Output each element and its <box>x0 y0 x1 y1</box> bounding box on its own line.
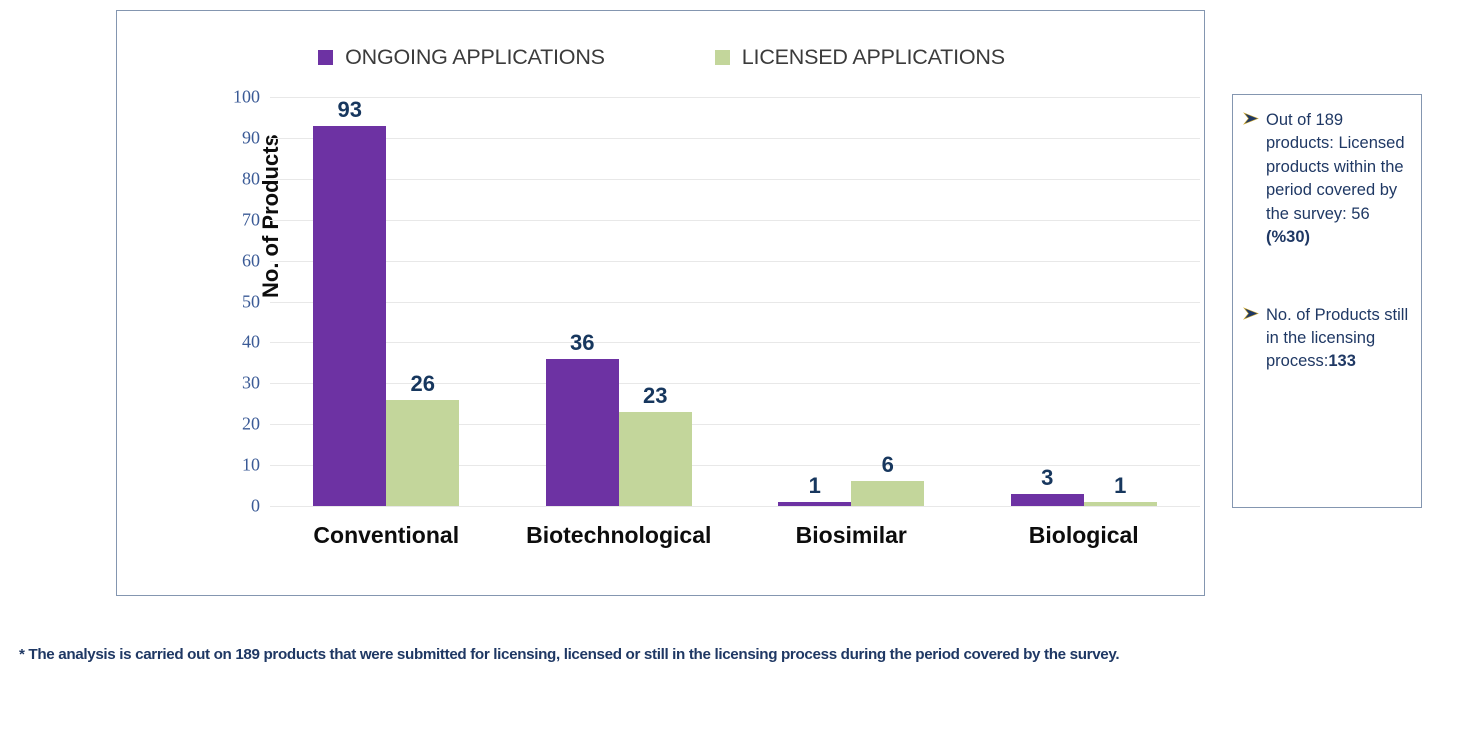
bar-value-label: 6 <box>882 452 894 478</box>
category-label: Conventional <box>313 522 459 549</box>
bar-value-label: 1 <box>809 473 821 499</box>
category-label: Biosimilar <box>796 522 907 549</box>
legend-label-licensed: LICENSED APPLICATIONS <box>742 45 1005 70</box>
category-label: Biotechnological <box>526 522 711 549</box>
y-tick-label: 20 <box>214 414 260 435</box>
bar-value-label: 3 <box>1041 465 1053 491</box>
legend-swatch-licensed <box>715 50 730 65</box>
y-tick-label: 60 <box>214 250 260 271</box>
plot-area: 1009080706050403020100 9326Conventional3… <box>270 97 1200 506</box>
note-text-2-bold: 133 <box>1328 352 1356 370</box>
legend-label-ongoing: ONGOING APPLICATIONS <box>345 45 605 70</box>
bar-group: 3623Biotechnological <box>503 97 736 506</box>
y-tick-label: 40 <box>214 332 260 353</box>
bar-group: 16Biosimilar <box>735 97 968 506</box>
note-text-1: Out of 189 products: Licensed products w… <box>1266 109 1411 250</box>
bar-ongoing[interactable]: 1 <box>778 502 851 506</box>
y-tick-label: 80 <box>214 168 260 189</box>
bar-group: 31Biological <box>968 97 1201 506</box>
arrow-bullet-icon <box>1243 304 1259 325</box>
arrow-bullet-icon <box>1243 109 1259 130</box>
bar-value-label: 1 <box>1114 473 1126 499</box>
y-tick-label: 10 <box>214 455 260 476</box>
footnote-text: * The analysis is carried out on 189 pro… <box>19 646 1459 663</box>
y-axis-tick-labels: 1009080706050403020100 <box>214 97 260 506</box>
category-label: Biological <box>1029 522 1139 549</box>
bar-licensed[interactable]: 26 <box>386 400 459 506</box>
y-tick-label: 90 <box>214 127 260 148</box>
note-text-1-bold: (%30) <box>1266 228 1310 246</box>
note-item: Out of 189 products: Licensed products w… <box>1243 109 1411 250</box>
note-item: No. of Products still in the licensing p… <box>1243 304 1411 374</box>
y-tick-label: 100 <box>214 87 260 108</box>
chart-container: ONGOING APPLICATIONS LICENSED APPLICATIO… <box>116 10 1205 596</box>
bar-ongoing[interactable]: 93 <box>313 126 386 506</box>
y-tick-label: 50 <box>214 291 260 312</box>
chart-legend: ONGOING APPLICATIONS LICENSED APPLICATIO… <box>117 45 1206 70</box>
note-text-2: No. of Products still in the licensing p… <box>1266 304 1411 374</box>
legend-swatch-ongoing <box>318 50 333 65</box>
gridline <box>270 506 1200 507</box>
bar-licensed[interactable]: 6 <box>851 481 924 506</box>
note-text-1-body: Out of 189 products: Licensed products w… <box>1266 111 1405 223</box>
bar-value-label: 26 <box>411 371 435 397</box>
y-tick-label: 30 <box>214 373 260 394</box>
legend-item-ongoing: ONGOING APPLICATIONS <box>318 45 605 70</box>
bar-licensed[interactable]: 23 <box>619 412 692 506</box>
bar-value-label: 36 <box>570 330 594 356</box>
bar-value-label: 23 <box>643 383 667 409</box>
bar-licensed[interactable]: 1 <box>1084 502 1157 506</box>
bar-value-label: 93 <box>338 97 362 123</box>
bar-ongoing[interactable]: 36 <box>546 359 619 506</box>
bar-group: 9326Conventional <box>270 97 503 506</box>
bar-ongoing[interactable]: 3 <box>1011 494 1084 506</box>
legend-item-licensed: LICENSED APPLICATIONS <box>715 45 1005 70</box>
side-notes-box: Out of 189 products: Licensed products w… <box>1232 94 1422 508</box>
y-tick-label: 0 <box>214 496 260 517</box>
y-tick-label: 70 <box>214 209 260 230</box>
